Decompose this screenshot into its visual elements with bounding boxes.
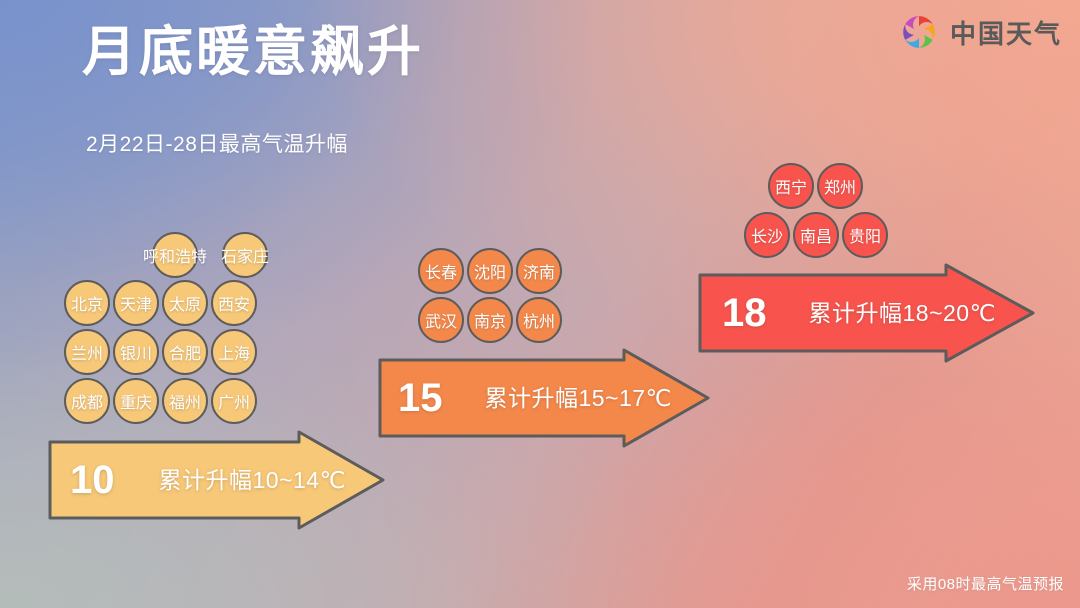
china-weather-pinwheel-icon xyxy=(897,10,941,54)
city-label: 天津 xyxy=(120,291,152,315)
city-bubble[interactable]: 杭州 xyxy=(516,297,562,343)
city-bubble[interactable]: 长沙 xyxy=(744,212,790,258)
brand-name: 中国天气 xyxy=(950,14,1062,51)
city-label: 银川 xyxy=(120,340,152,364)
city-bubble[interactable]: 北京 xyxy=(64,280,110,326)
city-label: 杭州 xyxy=(523,308,555,332)
city-label: 西安 xyxy=(218,291,250,315)
city-label: 长春 xyxy=(425,259,457,283)
page-title: 月底暖意飙升 xyxy=(82,25,424,79)
temperature-group-level-15: 长春 沈阳 济南 武汉 南京 杭州 15 累计升幅15~17℃ xyxy=(374,248,714,448)
city-label: 福州 xyxy=(169,389,201,413)
city-bubble[interactable]: 济南 xyxy=(516,248,562,294)
temperature-group-level-10: 呼和浩特 石家庄 北京 天津 太原 西安 兰州 银川 合肥 上海 xyxy=(44,232,404,522)
arrow-shape xyxy=(44,430,389,530)
city-bubble[interactable]: 重庆 xyxy=(113,378,159,424)
city-bubble[interactable]: 兰州 xyxy=(64,329,110,375)
city-bubble[interactable]: 南昌 xyxy=(793,212,839,258)
city-bubble[interactable]: 太原 xyxy=(162,280,208,326)
city-label: 广州 xyxy=(218,389,250,413)
temperature-group-level-18: 西宁 郑州 长沙 南昌 贵阳 18 累计升幅18~20℃ xyxy=(694,163,1039,363)
city-bubble[interactable]: 成都 xyxy=(64,378,110,424)
city-label: 呼和浩特 xyxy=(143,243,207,267)
city-label: 成都 xyxy=(71,389,103,413)
arrow-banner-level-10[interactable]: 10 累计升幅10~14℃ xyxy=(44,430,389,530)
city-label: 济南 xyxy=(523,259,555,283)
arrow-banner-level-18[interactable]: 18 累计升幅18~20℃ xyxy=(694,263,1039,363)
city-bubble[interactable]: 贵阳 xyxy=(842,212,888,258)
weather-infographic-poster: 月底暖意飙升 2月22日-28日最高气温升幅 中国天气 呼和浩特 xyxy=(0,0,1080,608)
city-bubble[interactable]: 呼和浩特 xyxy=(152,232,198,278)
city-bubble[interactable]: 广州 xyxy=(211,378,257,424)
page-subtitle: 2月22日-28日最高气温升幅 xyxy=(86,134,348,155)
city-label: 合肥 xyxy=(169,340,201,364)
city-bubble[interactable]: 西安 xyxy=(211,280,257,326)
brand-logo: 中国天气 xyxy=(897,10,1062,54)
city-bubble[interactable]: 南京 xyxy=(467,297,513,343)
city-bubble[interactable]: 福州 xyxy=(162,378,208,424)
city-bubble[interactable]: 郑州 xyxy=(817,163,863,209)
city-bubble[interactable]: 银川 xyxy=(113,329,159,375)
city-label: 西宁 xyxy=(775,174,807,198)
arrow-shape xyxy=(694,263,1039,363)
arrow-shape xyxy=(374,348,714,448)
city-label: 长沙 xyxy=(751,223,783,247)
city-label: 武汉 xyxy=(425,308,457,332)
city-label: 贵阳 xyxy=(849,223,881,247)
city-bubble[interactable]: 沈阳 xyxy=(467,248,513,294)
city-bubble[interactable]: 西宁 xyxy=(768,163,814,209)
city-bubble[interactable]: 长春 xyxy=(418,248,464,294)
city-label: 上海 xyxy=(218,340,250,364)
city-label: 重庆 xyxy=(120,389,152,413)
city-bubble[interactable]: 合肥 xyxy=(162,329,208,375)
footer-note: 采用08时最高气温预报 xyxy=(907,573,1064,594)
arrow-banner-level-15[interactable]: 15 累计升幅15~17℃ xyxy=(374,348,714,448)
city-bubble[interactable]: 武汉 xyxy=(418,297,464,343)
city-label: 太原 xyxy=(169,291,201,315)
city-label: 南京 xyxy=(474,308,506,332)
city-label: 沈阳 xyxy=(474,259,506,283)
city-label: 兰州 xyxy=(71,340,103,364)
city-label: 南昌 xyxy=(800,223,832,247)
city-bubble[interactable]: 天津 xyxy=(113,280,159,326)
city-label: 北京 xyxy=(71,291,103,315)
city-bubble[interactable]: 石家庄 xyxy=(222,232,268,278)
city-label: 郑州 xyxy=(824,174,856,198)
city-bubble[interactable]: 上海 xyxy=(211,329,257,375)
city-label: 石家庄 xyxy=(221,243,269,267)
